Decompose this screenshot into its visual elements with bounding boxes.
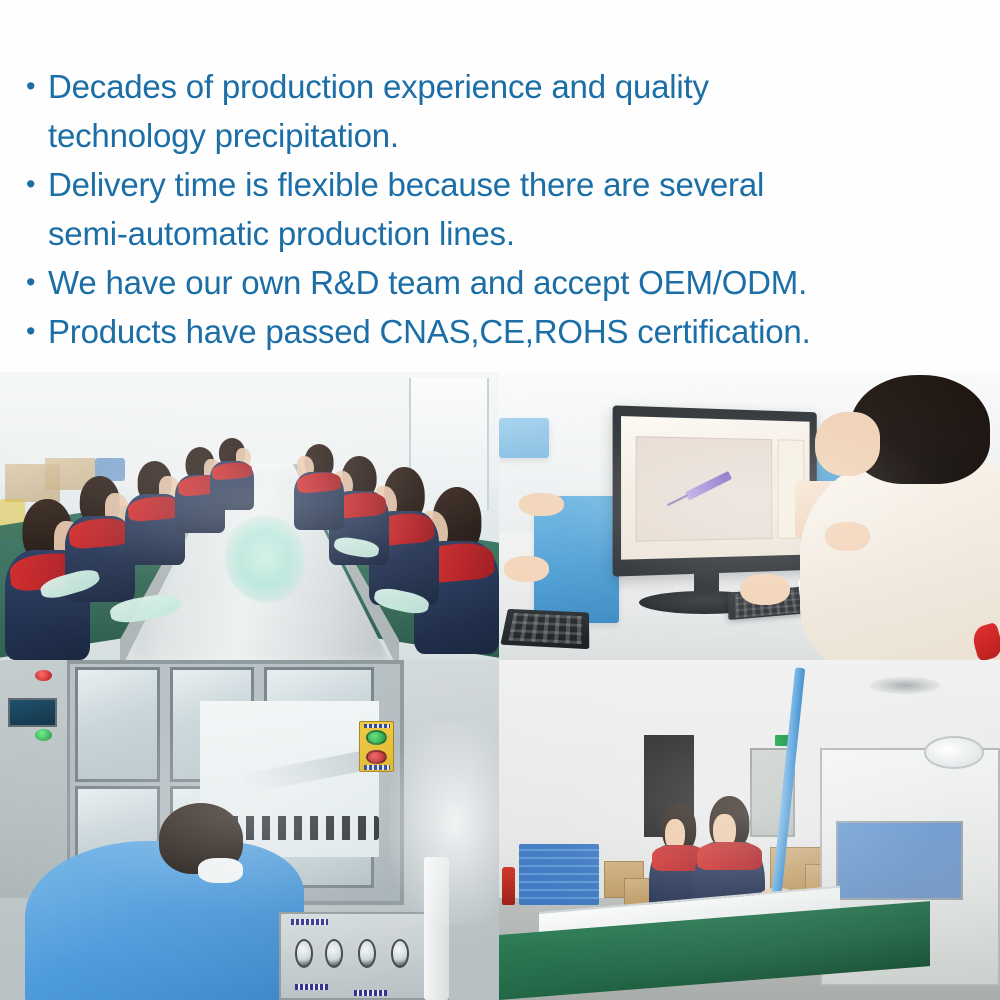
bullet-item-1-line-1: Decades of production experience and qua… [48, 62, 988, 111]
packaging-film-roll [924, 736, 984, 769]
computer-monitor [613, 406, 818, 577]
photo-packaging-line [499, 660, 1000, 1000]
photo-cad-office [499, 372, 1000, 660]
factory-photo-grid [0, 372, 1000, 1000]
bullet-marker-icon: • [26, 307, 48, 356]
machine-viewing-window [75, 667, 160, 783]
photo-machine-operator [0, 660, 499, 1000]
assembly-worker [210, 438, 255, 510]
office-worker-hand [825, 522, 870, 551]
bullet-item-2: • Delivery time is flexible because ther… [26, 160, 988, 209]
machine-operator [25, 803, 304, 1000]
bullet-item-4: • Products have passed CNAS,CE,ROHS cert… [26, 307, 988, 356]
bullet-marker-icon: • [26, 62, 48, 111]
colleague-hand [504, 556, 549, 582]
bullet-item-1-continuation: technology precipitation. [26, 111, 988, 160]
pressure-gauge[interactable] [358, 939, 376, 968]
operator-face-mask [198, 858, 243, 883]
panel-label-tag [295, 984, 328, 990]
ceiling-fan [870, 677, 940, 694]
assembly-worker [294, 444, 344, 530]
desk-divider-panel [499, 418, 549, 458]
bullet-item-3: • We have our own R&D team and accept OE… [26, 258, 988, 307]
bullet-item-3-line-1: We have our own R&D team and accept OEM/… [48, 258, 988, 307]
office-worker [800, 458, 1000, 660]
steam-vapor [389, 721, 499, 925]
bullet-item-1: • Decades of production experience and q… [26, 62, 988, 111]
pressure-gauge[interactable] [391, 939, 409, 968]
sweater-logo [970, 622, 1000, 660]
start-button-green[interactable] [366, 730, 387, 745]
operator-blue-coat [25, 841, 304, 1000]
fire-extinguisher [502, 867, 515, 904]
cad-drawing-canvas [636, 437, 773, 543]
pressure-gauge[interactable] [325, 939, 343, 968]
blue-stacked-crates [519, 844, 599, 905]
control-panel-label-bottom [364, 765, 390, 769]
worker-uniform-red-panel [697, 842, 762, 870]
monitor-screen [622, 416, 810, 559]
stop-button-red[interactable] [366, 750, 387, 765]
capability-bullet-list: • Decades of production experience and q… [0, 0, 1000, 372]
colleague-hand [519, 493, 564, 516]
bullet-marker-icon: • [26, 258, 48, 307]
pressure-gauge[interactable] [295, 939, 313, 968]
office-worker-face [815, 412, 880, 475]
indicator-lamp-green [35, 729, 52, 741]
photo-assembly-line [0, 372, 499, 660]
bullet-item-1-line-2: technology precipitation. [48, 111, 988, 160]
office-worker-hand [740, 574, 790, 606]
bullet-item-4-line-1: Products have passed CNAS,CE,ROHS certif… [48, 307, 988, 356]
bullet-marker-icon: • [26, 160, 48, 209]
calculator [500, 609, 589, 649]
banner-page: • Decades of production experience and q… [0, 0, 1000, 1000]
bullet-item-2-continuation: semi-automatic production lines. [26, 209, 988, 258]
bullet-item-2-line-2: semi-automatic production lines. [48, 209, 988, 258]
control-panel-label-top [364, 724, 390, 728]
cad-syringe-model [685, 471, 732, 501]
cad-syringe-needle [667, 495, 688, 507]
indicator-lamp-red [35, 670, 52, 682]
bullet-item-2-line-1: Delivery time is flexible because there … [48, 160, 988, 209]
machine-sealing-window [836, 821, 963, 901]
panel-label-tag [354, 990, 387, 996]
hmi-touchscreen[interactable] [8, 698, 57, 727]
panel-label-tag [291, 919, 327, 925]
